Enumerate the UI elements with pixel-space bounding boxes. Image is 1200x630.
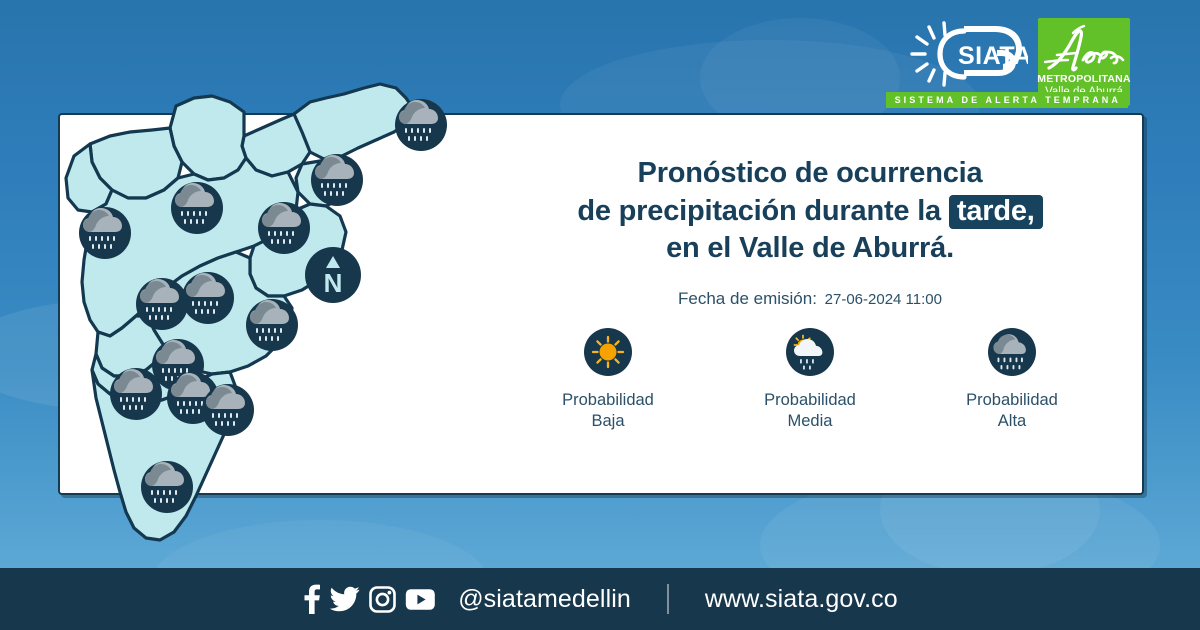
- youtube-icon[interactable]: [405, 588, 436, 611]
- legend-label-media-line2: Media: [720, 411, 900, 432]
- social-icon-group: [302, 584, 436, 614]
- legend-item-baja[interactable]: Probabilidad Baja: [518, 328, 698, 432]
- area-script-icon: [1043, 22, 1125, 74]
- website-url[interactable]: www.siata.gov.co: [705, 585, 898, 614]
- legend-label-alta: Probabilidad Alta: [922, 390, 1102, 432]
- legend-label-alta-line2: Alta: [922, 411, 1102, 432]
- page-title: Pronóstico de ocurrencia de precipitació…: [500, 155, 1120, 268]
- title-line-1: Pronóstico de ocurrencia: [500, 155, 1120, 193]
- area-logo-line1: METROPOLITANA: [1037, 74, 1130, 85]
- probability-legend: Probabilidad Baja: [500, 328, 1120, 432]
- map-marker-copacabana[interactable]: [258, 202, 310, 254]
- forecast-text-block: Pronóstico de ocurrencia de precipitació…: [500, 155, 1120, 309]
- footer-divider: [667, 584, 669, 614]
- instagram-icon[interactable]: [369, 586, 396, 613]
- legend-label-media: Probabilidad Media: [720, 390, 900, 432]
- map-marker-caldas-sur[interactable]: [141, 461, 193, 513]
- emission-date-label: Fecha de emisión:: [678, 289, 817, 308]
- twitter-icon[interactable]: [330, 586, 360, 612]
- emission-date-value: 27-06-2024 11:00: [825, 291, 942, 308]
- compass-rose: N: [305, 247, 361, 303]
- title-line-3: en el Valle de Aburrá.: [500, 230, 1120, 268]
- map-marker-bello[interactable]: [171, 182, 223, 234]
- map-marker-barbosa[interactable]: [395, 99, 447, 151]
- tagline-banner: SISTEMA DE ALERTA TEMPRANA: [886, 92, 1128, 108]
- map-marker-san-pedro[interactable]: [79, 207, 131, 259]
- cloud-rain-icon: [988, 328, 1036, 376]
- legend-item-alta[interactable]: Probabilidad Alta: [922, 328, 1102, 432]
- facebook-icon[interactable]: [302, 584, 321, 614]
- title-line-2: de precipitación durante la tarde,: [500, 193, 1120, 231]
- map-marker-sabaneta[interactable]: [110, 368, 162, 420]
- map-svg: N: [58, 40, 528, 585]
- title-line-2-text: de precipitación durante la: [577, 195, 941, 227]
- footer-bar: @siatamedellin www.siata.gov.co: [0, 568, 1200, 630]
- social-handle[interactable]: @siatamedellin: [458, 585, 631, 614]
- siata-logo-icon: SIATA: [898, 18, 1028, 90]
- title-highlight-tarde: tarde,: [949, 195, 1043, 230]
- compass-north-label: N: [324, 268, 343, 298]
- infographic-root: SIATA METROPOLITANA Valle de Aburrá SIST…: [0, 0, 1200, 630]
- legend-item-media[interactable]: Probabilidad Media: [720, 328, 900, 432]
- emission-date: Fecha de emisión: 27-06-2024 11:00: [500, 289, 1120, 309]
- valle-de-aburra-map: N: [58, 40, 528, 585]
- legend-label-media-line1: Probabilidad: [720, 390, 900, 411]
- legend-label-baja-line2: Baja: [518, 411, 698, 432]
- sun-cloud-rain-icon: [786, 328, 834, 376]
- legend-label-baja-line1: Probabilidad: [518, 390, 698, 411]
- map-marker-medellin-centro[interactable]: [182, 272, 234, 324]
- map-marker-medellin-norte[interactable]: [136, 278, 188, 330]
- siata-wordmark: SIATA: [958, 42, 1028, 70]
- map-marker-girardota[interactable]: [311, 154, 363, 206]
- map-marker-envigado[interactable]: [246, 299, 298, 351]
- legend-label-alta-line1: Probabilidad: [922, 390, 1102, 411]
- map-marker-caldas[interactable]: [202, 384, 254, 436]
- sun-icon: [584, 328, 632, 376]
- legend-label-baja: Probabilidad Baja: [518, 390, 698, 432]
